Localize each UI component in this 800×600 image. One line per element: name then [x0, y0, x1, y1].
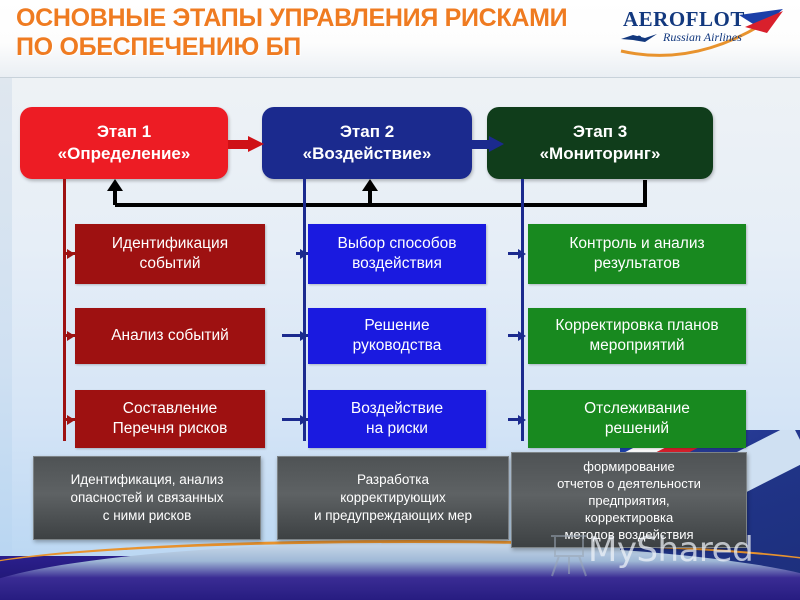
blue-item-2-line2: руководства	[353, 336, 442, 356]
blue-item-2-line1: Решение	[364, 316, 429, 336]
footer-box-3-line3: предприятия,	[588, 492, 669, 509]
stage-box-3[interactable]: Этап 3 «Мониторинг»	[487, 107, 713, 179]
aeroflot-logo: AEROFLOT Russian Airlines	[605, 5, 790, 63]
green-item-1-line2: результатов	[594, 254, 680, 274]
footer-box-1-line1: Идентификация, анализ	[71, 471, 224, 489]
stage-2-line2: «Воздействие»	[303, 143, 432, 165]
green-item-2-line1: Корректировка планов	[555, 316, 718, 336]
green-item-2[interactable]: Корректировка планов мероприятий	[528, 308, 746, 364]
connector-arrowhead-red-3	[67, 415, 75, 425]
feedback-arrowhead-stage1	[107, 179, 123, 191]
connector-arrowhead-blue-2	[300, 331, 308, 341]
red-item-3-line1: Составление	[123, 399, 218, 419]
blue-item-2[interactable]: Решение руководства	[308, 308, 486, 364]
connector-rail-green	[521, 179, 524, 441]
page-title-line2: ПО ОБЕСПЕЧЕНИЮ БП	[16, 33, 616, 62]
red-item-2-line1: Анализ событий	[111, 326, 229, 346]
red-item-1-line2: событий	[140, 254, 201, 274]
arrow-head	[248, 136, 264, 152]
connector-arrowhead-green-1	[518, 249, 526, 259]
slide-canvas: ОСНОВНЫЕ ЭТАПЫ УПРАВЛЕНИЯ РИСКАМИ ПО ОБЕ…	[0, 0, 800, 600]
red-item-1[interactable]: Идентификация событий	[75, 224, 265, 284]
logo-tagline: Russian Airlines	[663, 30, 742, 45]
background-left-strip	[0, 78, 12, 556]
arrow-shaft	[471, 140, 491, 149]
red-item-2[interactable]: Анализ событий	[75, 308, 265, 364]
stage-box-2[interactable]: Этап 2 «Воздействие»	[262, 107, 472, 179]
blue-item-1-line1: Выбор способов	[338, 234, 457, 254]
arrow-stage2-to-stage3	[471, 136, 505, 152]
green-item-2-line2: мероприятий	[590, 336, 685, 356]
connector-rail-red	[63, 179, 66, 441]
red-item-3-line2: Перечня рисков	[113, 419, 228, 439]
connector-arrowhead-blue-3	[300, 415, 308, 425]
footer-box-2-line1: Разработка	[357, 471, 429, 489]
red-item-1-line1: Идентификация	[112, 234, 228, 254]
winged-hammer-sickle-icon	[619, 31, 659, 45]
green-item-3[interactable]: Отслеживание решений	[528, 390, 746, 448]
stage-1-line1: Этап 1	[97, 121, 151, 143]
arrow-stage1-to-stage2	[228, 136, 264, 152]
green-item-1-line1: Контроль и анализ	[569, 234, 704, 254]
footer-box-1-line3: с ними рисков	[103, 507, 192, 525]
green-item-1[interactable]: Контроль и анализ результатов	[528, 224, 746, 284]
footer-box-3-line1: формирование	[583, 458, 674, 475]
blue-item-3-line2: на риски	[366, 419, 428, 439]
green-item-3-line2: решений	[605, 419, 669, 439]
connector-arrowhead-green-3	[518, 415, 526, 425]
stage-2-line1: Этап 2	[340, 121, 394, 143]
arrow-shaft	[228, 140, 250, 149]
footer-box-3[interactable]: формирование отчетов о деятельности пред…	[511, 452, 747, 548]
stage-box-1[interactable]: Этап 1 «Определение»	[20, 107, 228, 179]
stage-3-line1: Этап 3	[573, 121, 627, 143]
red-item-3[interactable]: Составление Перечня рисков	[75, 390, 265, 448]
stage-1-line2: «Определение»	[58, 143, 191, 165]
connector-arrowhead-red-2	[67, 331, 75, 341]
footer-box-1-line2: опасностей и связанных	[70, 489, 223, 507]
footer-box-2-line2: корректирующих	[340, 489, 446, 507]
blue-item-3-line1: Воздействие	[351, 399, 443, 419]
feedback-arrowhead-stage2	[362, 179, 378, 191]
blue-item-3[interactable]: Воздействие на риски	[308, 390, 486, 448]
footer-box-2[interactable]: Разработка корректирующих и предупреждаю…	[277, 456, 509, 540]
connector-rail-blue	[303, 179, 306, 441]
page-title-line1: ОСНОВНЫЕ ЭТАПЫ УПРАВЛЕНИЯ РИСКАМИ	[16, 4, 567, 32]
connector-arrowhead-green-2	[518, 331, 526, 341]
stage-3-line2: «Мониторинг»	[540, 143, 661, 165]
blue-item-1-line2: воздействия	[352, 254, 442, 274]
footer-box-1[interactable]: Идентификация, анализ опасностей и связа…	[33, 456, 261, 540]
footer-box-2-line3: и предупреждающих мер	[314, 507, 472, 525]
arrow-head	[489, 136, 504, 152]
footer-box-3-line4: корректировка	[585, 509, 673, 526]
blue-item-1[interactable]: Выбор способов воздействия	[308, 224, 486, 284]
connector-arrowhead-red-1	[67, 249, 75, 259]
footer-box-3-line2: отчетов о деятельности	[557, 475, 701, 492]
page-title: ОСНОВНЫЕ ЭТАПЫ УПРАВЛЕНИЯ РИСКАМИ ПО ОБЕ…	[16, 4, 616, 62]
green-item-3-line1: Отслеживание	[584, 399, 690, 419]
logo-wordmark: AEROFLOT	[623, 7, 745, 32]
connector-arrowhead-blue-1	[300, 249, 308, 259]
footer-box-3-line5: методов воздействия	[564, 526, 693, 543]
feedback-line-horizontal	[115, 203, 647, 207]
